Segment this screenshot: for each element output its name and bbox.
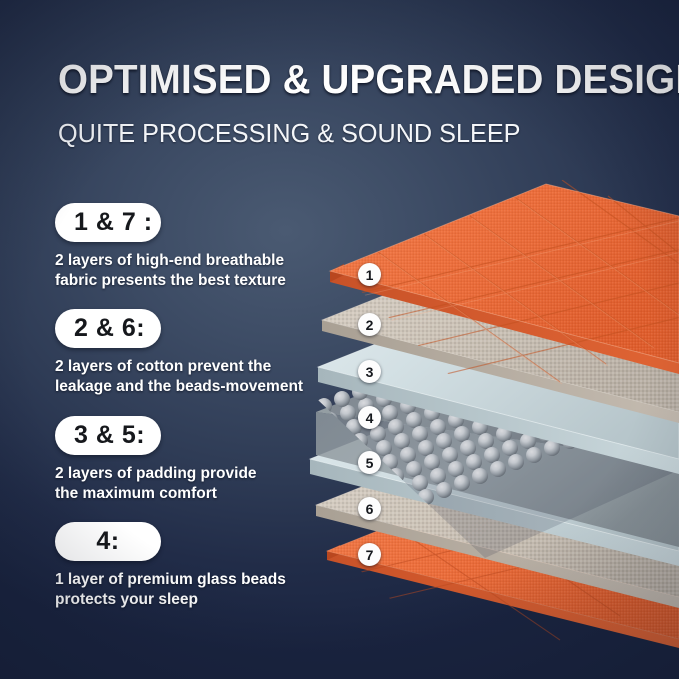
feature-desc-4-line-1: 1 layer of premium glass beads: [55, 570, 317, 590]
feature-block-3: 3 & 5: 2 layers of padding provide the m…: [55, 416, 317, 503]
feature-desc-2-line-2: leakage and the beads-movement: [55, 377, 317, 397]
layer-badge-4-number: 4: [366, 411, 374, 425]
layer-badge-7-number: 7: [366, 548, 374, 562]
layer-badge-3: 3: [358, 360, 381, 383]
layer-badge-3-number: 3: [366, 365, 374, 379]
layer-badge-5-number: 5: [366, 456, 374, 470]
feature-pill-4-label: 4:: [96, 526, 119, 556]
infographic-canvas: 1 2 3 4 5 6 7 OPTIMISED & UPGRADED DESIG…: [0, 0, 679, 679]
layer-badge-2-number: 2: [366, 318, 374, 332]
feature-desc-1-line-2: fabric presents the best texture: [55, 271, 317, 291]
layer-badge-4: 4: [358, 406, 381, 429]
layer-badge-1: 1: [358, 263, 381, 286]
feature-desc-3-line-2: the maximum comfort: [55, 484, 317, 504]
page-title: OPTIMISED & UPGRADED DESIGN: [58, 57, 679, 101]
feature-pill-3: 3 & 5:: [55, 416, 161, 455]
feature-desc-2: 2 layers of cotton prevent the leakage a…: [55, 357, 317, 396]
feature-block-2: 2 & 6: 2 layers of cotton prevent the le…: [55, 309, 317, 396]
layer-badge-2: 2: [358, 313, 381, 336]
feature-pill-2-label: 2 & 6:: [55, 313, 145, 343]
feature-pill-4: 4:: [55, 522, 161, 561]
feature-desc-3-line-1: 2 layers of padding provide: [55, 464, 317, 484]
page-subtitle: QUITE PROCESSING & SOUND SLEEP: [58, 118, 520, 148]
feature-pill-3-label: 3 & 5:: [55, 420, 145, 450]
feature-pill-2: 2 & 6:: [55, 309, 161, 348]
layer-badge-5: 5: [358, 451, 381, 474]
layer-badge-7: 7: [358, 543, 381, 566]
feature-desc-4-line-2: protects your sleep: [55, 590, 317, 610]
layer-badge-6: 6: [358, 497, 381, 520]
feature-pill-1-label: 1 & 7 :: [55, 207, 153, 237]
feature-desc-4: 1 layer of premium glass beads protects …: [55, 570, 317, 609]
feature-desc-3: 2 layers of padding provide the maximum …: [55, 464, 317, 503]
feature-desc-1-line-1: 2 layers of high-end breathable: [55, 251, 317, 271]
feature-desc-1: 2 layers of high-end breathable fabric p…: [55, 251, 317, 290]
feature-block-1: 1 & 7 : 2 layers of high-end breathable …: [55, 203, 317, 290]
feature-block-4: 4: 1 layer of premium glass beads protec…: [55, 522, 317, 609]
feature-desc-2-line-1: 2 layers of cotton prevent the: [55, 357, 317, 377]
layer-badge-6-number: 6: [366, 502, 374, 516]
layer-badge-1-number: 1: [366, 268, 374, 282]
feature-pill-1: 1 & 7 :: [55, 203, 161, 242]
